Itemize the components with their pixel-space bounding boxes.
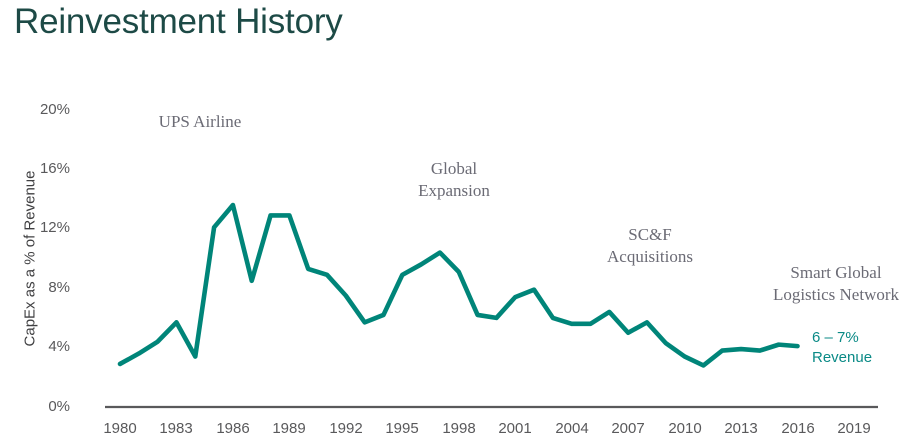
reinvestment-history-chart: 20% 16% 12% 8% 4% 0% CapEx as a % of Rev… [0, 0, 916, 445]
annotation-scf-acquisitions: SC&F Acquisitions [586, 224, 714, 269]
annotation-ups-airline: UPS Airline [140, 111, 260, 133]
callout-revenue-target: 6 – 7% Revenue [812, 328, 912, 369]
annotation-global-expansion: Global Expansion [390, 158, 518, 203]
slide-canvas: Reinvestment History 20% 16% 12% 8% 4% 0… [0, 0, 916, 445]
chart-plot-svg [0, 0, 916, 445]
annotation-smart-global-logistics-network: Smart Global Logistics Network [756, 262, 916, 307]
